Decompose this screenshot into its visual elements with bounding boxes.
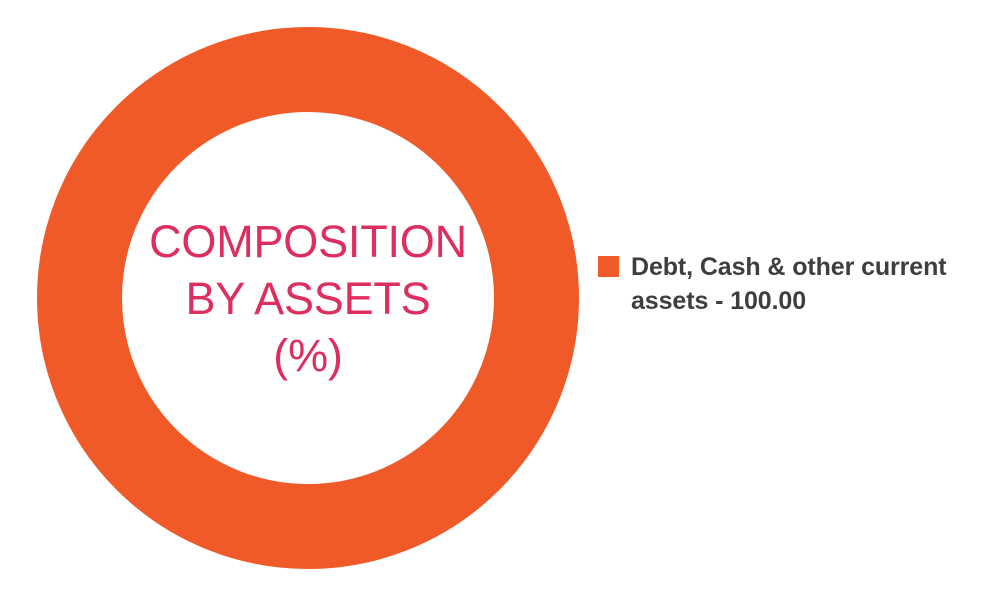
legend-item-debt-cash-other-current-assets[interactable]: Debt, Cash & other current assets - 100.… bbox=[598, 250, 981, 318]
donut-chart-figure: COMPOSITION BY ASSETS (%) Debt, Cash & o… bbox=[0, 0, 1003, 598]
donut-slice-group bbox=[37, 27, 579, 569]
donut-slice-debt-cash-other-current-assets[interactable] bbox=[80, 70, 537, 527]
legend-item-label: Debt, Cash & other current assets - 100.… bbox=[631, 250, 981, 318]
square-swatch-icon bbox=[598, 256, 619, 277]
donut-ring bbox=[37, 27, 579, 569]
chart-legend: Debt, Cash & other current assets - 100.… bbox=[598, 250, 988, 318]
